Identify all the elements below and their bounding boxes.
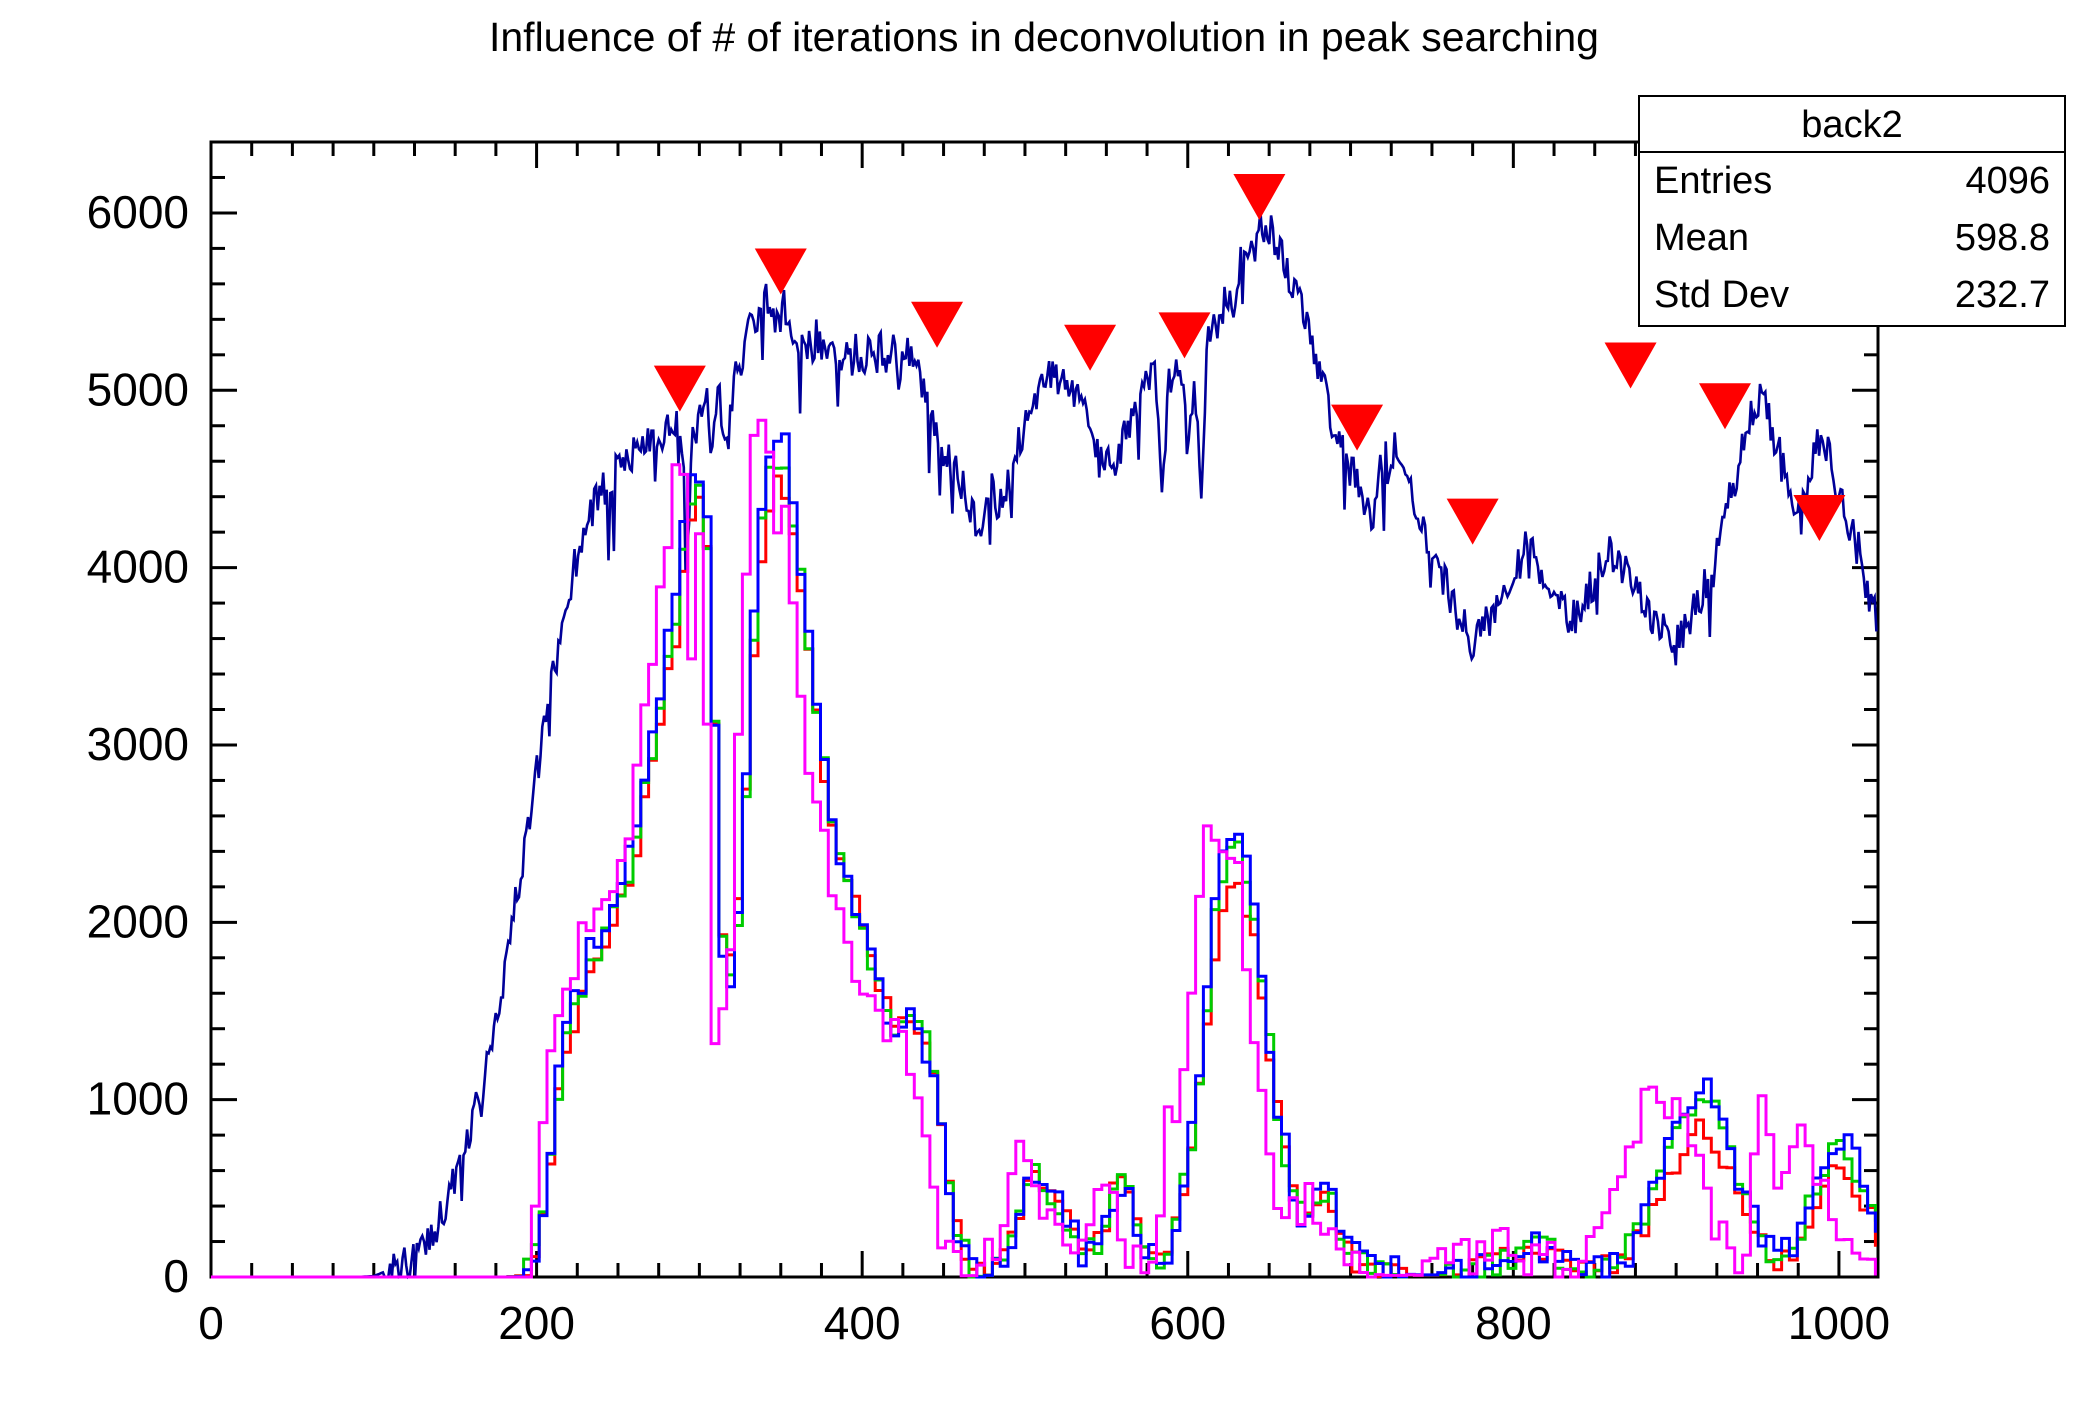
x-tick-label: 600 <box>1149 1297 1226 1349</box>
x-tick-label: 1000 <box>1788 1297 1890 1349</box>
stats-box-title: back2 <box>1640 97 2064 153</box>
root-canvas: Influence of # of iterations in deconvol… <box>0 0 2088 1416</box>
peak-marker-1[interactable] <box>654 366 706 412</box>
y-tick-label: 1000 <box>87 1073 189 1125</box>
peak-marker-4[interactable] <box>1064 325 1116 371</box>
stats-mean-label: Mean <box>1654 217 1749 260</box>
stats-row: Entries 4096 <box>1640 153 2064 210</box>
x-tick-label: 400 <box>824 1297 901 1349</box>
stats-stddev-value: 232.7 <box>1955 274 2050 317</box>
peak-marker-2[interactable] <box>755 249 807 295</box>
y-axis-ticks <box>211 142 1878 1277</box>
y-tick-label: 2000 <box>87 895 189 947</box>
peak-marker-6[interactable] <box>1233 174 1285 220</box>
stats-entries-label: Entries <box>1654 160 1772 203</box>
x-tick-label: 0 <box>198 1297 224 1349</box>
series-deconv-iter-1000 <box>211 420 1875 1277</box>
stats-row: Mean 598.8 <box>1640 210 2064 267</box>
plot-frame <box>211 142 1878 1277</box>
stats-entries-value: 4096 <box>1965 160 2050 203</box>
y-tick-label: 0 <box>163 1250 189 1302</box>
x-axis-ticks <box>211 142 1839 1277</box>
stats-mean-value: 598.8 <box>1955 217 2050 260</box>
peak-marker-3[interactable] <box>911 302 963 348</box>
x-tick-label: 200 <box>498 1297 575 1349</box>
peak-marker-9[interactable] <box>1605 343 1657 389</box>
peak-marker-7[interactable] <box>1331 405 1383 451</box>
y-axis-labels: 0100020003000400050006000 <box>87 186 189 1302</box>
x-tick-label: 800 <box>1475 1297 1552 1349</box>
stats-stddev-label: Std Dev <box>1654 274 1789 317</box>
y-tick-label: 3000 <box>87 718 189 770</box>
peak-marker-5[interactable] <box>1159 312 1211 358</box>
stats-row: Std Dev 232.7 <box>1640 267 2064 324</box>
peak-marker-8[interactable] <box>1447 499 1499 545</box>
y-tick-label: 6000 <box>87 186 189 238</box>
peak-marker-10[interactable] <box>1699 383 1751 429</box>
y-tick-label: 5000 <box>87 363 189 415</box>
y-tick-label: 4000 <box>87 541 189 593</box>
x-axis-labels: 02004006008001000 <box>198 1297 1890 1349</box>
stats-box[interactable]: back2 Entries 4096 Mean 598.8 Std Dev 23… <box>1638 95 2066 327</box>
